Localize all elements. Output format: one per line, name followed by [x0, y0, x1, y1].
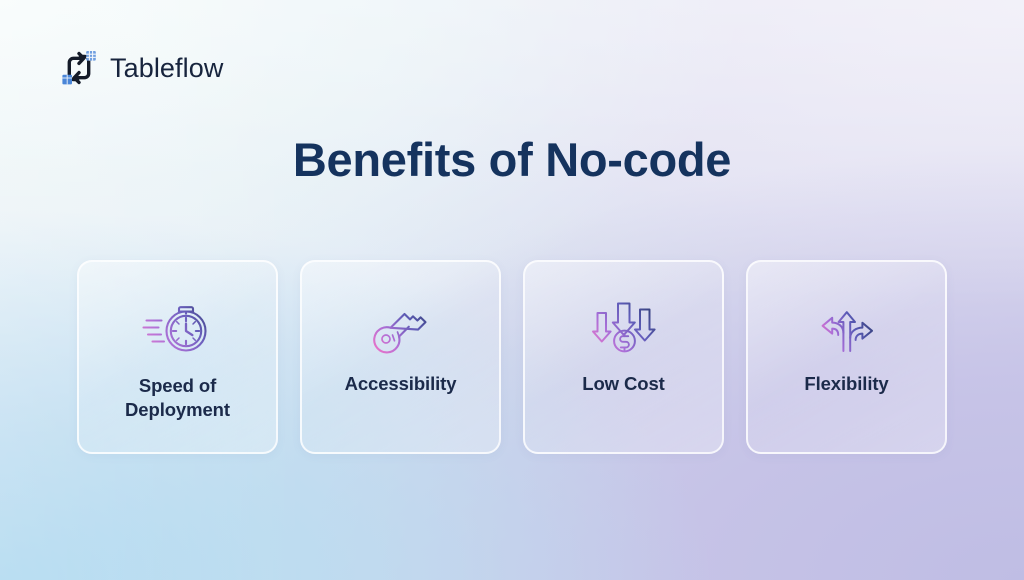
stopwatch-speed-icon: [141, 262, 215, 360]
benefit-card-speed-of-deployment[interactable]: Speed of Deployment: [77, 260, 278, 454]
benefit-card-label: Speed of Deployment: [79, 374, 276, 421]
benefit-card-label: Accessibility: [302, 372, 499, 396]
page-title: Benefits of No-code: [0, 134, 1024, 186]
down-arrows-dollar-coin-icon: [587, 262, 661, 358]
brand-name: Tableflow: [110, 55, 223, 82]
refresh-cycle-grid-icon: [60, 48, 98, 88]
benefit-card-flexibility[interactable]: Flexibility: [746, 260, 947, 454]
benefit-card-low-cost[interactable]: Low Cost: [523, 260, 724, 454]
branching-arrows-icon: [810, 262, 884, 358]
brand-logo[interactable]: Tableflow: [60, 48, 223, 88]
benefit-card-accessibility[interactable]: Accessibility: [300, 260, 501, 454]
benefit-card-label: Flexibility: [748, 372, 945, 396]
slide-canvas: Tableflow Benefits of No-code: [0, 0, 1024, 580]
key-icon: [364, 262, 438, 358]
benefit-card-row: Speed of Deployment: [77, 260, 947, 454]
benefit-card-label: Low Cost: [525, 372, 722, 396]
